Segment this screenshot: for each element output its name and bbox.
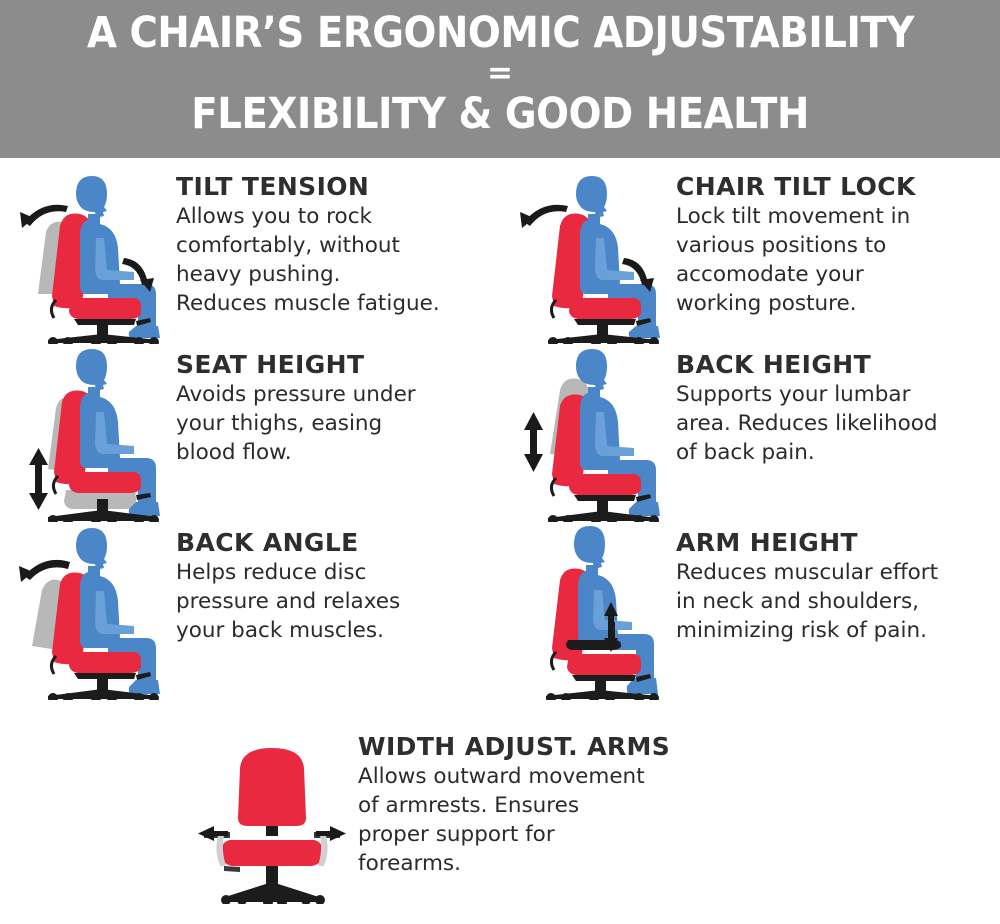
text-tilt-tension: TILT TENSION Allows you to rock comforta… xyxy=(173,166,440,318)
feature-title: SEAT HEIGHT xyxy=(176,350,416,380)
text-back-angle: BACK ANGLE Helps reduce disc pressure an… xyxy=(173,522,400,645)
header-title-line-2: FLEXIBILITY & GOOD HEALTH xyxy=(191,89,809,139)
feature-description: Reduces muscular effort in neck and shou… xyxy=(676,558,938,645)
feature-title: TILT TENSION xyxy=(176,172,440,202)
chair-seat-icon xyxy=(69,298,141,319)
seat-mechanism-icon xyxy=(74,673,136,679)
backrest-connector-icon xyxy=(266,826,278,836)
feature-description: Avoids pressure under your thighs, easin… xyxy=(176,380,416,467)
feature-description: Allows outward movement of armrests. Ens… xyxy=(358,762,670,878)
chair-seat-icon xyxy=(569,474,641,495)
figure-chair-tilt-lock xyxy=(508,166,673,344)
backrest-connector-icon xyxy=(551,652,556,670)
figure-width-adjust-arms xyxy=(190,726,355,904)
horizontal-arrow-left-icon xyxy=(198,826,228,841)
figure-back-angle xyxy=(8,522,173,700)
feature-title: ARM HEIGHT xyxy=(676,528,938,558)
backrest-connector-icon xyxy=(51,300,56,318)
feature-row: SEAT HEIGHT Avoids pressure under your t… xyxy=(0,344,1000,522)
feature-item-back-height: BACK HEIGHT Supports your lumbar area. R… xyxy=(500,344,1000,522)
header-banner: A CHAIR’S ERGONOMIC ADJUSTABILITY = FLEX… xyxy=(0,0,1000,158)
feature-description: Supports your lumbar area. Reduces likel… xyxy=(676,380,938,467)
feature-row: TILT TENSION Allows you to rock comforta… xyxy=(0,166,1000,344)
feature-item-seat-height: SEAT HEIGHT Avoids pressure under your t… xyxy=(0,344,500,522)
feature-description: Allows you to rock comfortably, without … xyxy=(176,202,440,318)
feature-item-back-angle: BACK ANGLE Helps reduce disc pressure an… xyxy=(0,522,500,700)
figure-arm-height xyxy=(508,522,673,700)
figure-seat-height xyxy=(8,344,173,522)
feature-item-tilt-tension: TILT TENSION Allows you to rock comforta… xyxy=(0,166,500,344)
backrest-connector-icon xyxy=(53,476,58,494)
feature-title: BACK ANGLE xyxy=(176,528,400,558)
chair-seat-icon xyxy=(69,652,141,673)
backrest-connector-icon xyxy=(551,478,556,496)
feature-description: Helps reduce disc pressure and relaxes y… xyxy=(176,558,400,645)
text-arm-height: ARM HEIGHT Reduces muscular effort in ne… xyxy=(673,522,938,645)
horizontal-arrow-right-icon xyxy=(316,826,346,841)
text-seat-height: SEAT HEIGHT Avoids pressure under your t… xyxy=(173,344,416,467)
feature-row: WIDTH ADJUST. ARMS Allows outward moveme… xyxy=(0,726,1000,904)
feature-row: BACK ANGLE Helps reduce disc pressure an… xyxy=(0,522,1000,700)
header-equals-sign: = xyxy=(487,59,513,87)
vertical-double-arrow-icon xyxy=(524,412,543,472)
feature-item-chair-tilt-lock: CHAIR TILT LOCK Lock tilt movement in va… xyxy=(500,166,1000,344)
backrest-connector-icon xyxy=(551,300,556,318)
seat-lever-icon xyxy=(224,866,240,872)
feature-title: CHAIR TILT LOCK xyxy=(676,172,916,202)
figure-tilt-tension xyxy=(8,166,173,344)
chair-seat-icon xyxy=(69,472,141,493)
feature-title: WIDTH ADJUST. ARMS xyxy=(358,732,670,762)
seat-mechanism-icon xyxy=(574,319,636,325)
figure-back-height xyxy=(508,344,673,522)
text-width-adjust-arms: WIDTH ADJUST. ARMS Allows outward moveme… xyxy=(355,726,670,878)
chair-seat-icon xyxy=(221,840,323,866)
header-title-line-1: A CHAIR’S ERGONOMIC ADJUSTABILITY xyxy=(86,8,913,58)
seat-mechanism-icon xyxy=(74,319,136,325)
feature-item-arm-height: ARM HEIGHT Reduces muscular effort in ne… xyxy=(500,522,1000,700)
chair-backrest-icon xyxy=(238,748,306,826)
feature-description: Lock tilt movement in various positions … xyxy=(676,202,916,318)
features-grid: TILT TENSION Allows you to rock comforta… xyxy=(0,158,1000,904)
backrest-connector-icon xyxy=(51,656,56,674)
chair-seat-icon xyxy=(567,654,641,675)
feature-item-width-adjust-arms: WIDTH ADJUST. ARMS Allows outward moveme… xyxy=(190,726,810,904)
vertical-double-arrow-icon xyxy=(29,448,48,510)
chair-seat-icon xyxy=(569,298,641,319)
text-back-height: BACK HEIGHT Supports your lumbar area. R… xyxy=(673,344,938,467)
text-chair-tilt-lock: CHAIR TILT LOCK Lock tilt movement in va… xyxy=(673,166,916,318)
seat-mechanism-icon xyxy=(572,675,636,681)
seat-mechanism-icon xyxy=(74,493,136,499)
feature-title: BACK HEIGHT xyxy=(676,350,938,380)
seat-mechanism-icon xyxy=(574,495,636,501)
